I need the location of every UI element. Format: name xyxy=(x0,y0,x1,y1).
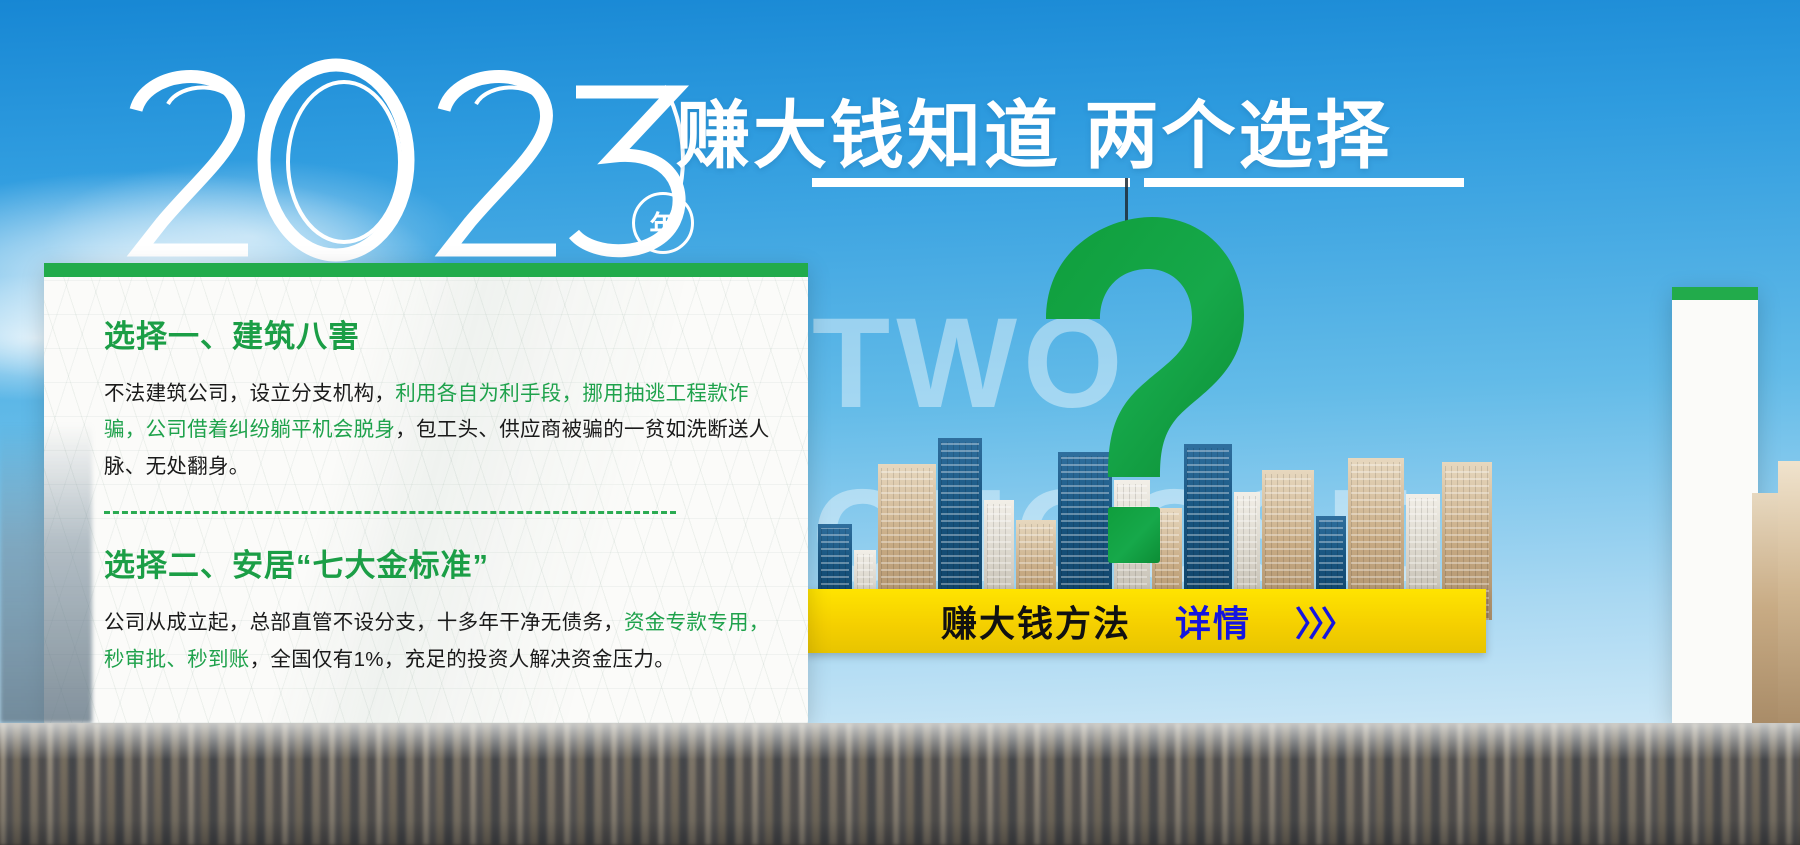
cta-detail-label: 详情 xyxy=(1175,595,1251,647)
reflection-fade xyxy=(0,723,1800,845)
section-two-part-1: 公司从成立起，总部直管不设分支，十多年干净无债务， xyxy=(104,611,624,634)
watermark-two: TWO xyxy=(812,300,1129,428)
content-card-partial xyxy=(1672,287,1758,723)
shore-blur xyxy=(0,423,92,723)
content-card: 选择一、建筑八害 不法建筑公司，设立分支机构，利用各自为利手段，挪用抽逃工程款诈… xyxy=(44,263,808,723)
page-title: 赚大钱知道 两个选择 xyxy=(676,76,1393,183)
card-section-one: 选择一、建筑八害 不法建筑公司，设立分支机构，利用各自为利手段，挪用抽逃工程款诈… xyxy=(104,311,780,485)
section-one-title: 选择一、建筑八害 xyxy=(104,311,780,356)
chevron-right-icon: 〉〉〉 xyxy=(1295,597,1351,646)
rule-left-segment xyxy=(812,178,1130,187)
card-section-two: 选择二、安居“七大金标准” 公司从成立起，总部直管不设分支，十多年干净无债务，资… xyxy=(104,540,780,678)
year-unit-badge: 年 xyxy=(632,192,694,254)
section-one-body: 不法建筑公司，设立分支机构，利用各自为利手段，挪用抽逃工程款诈骗，公司借着纠纷躺… xyxy=(104,376,780,485)
card-partial-accent-bar xyxy=(1672,287,1758,300)
section-two-body: 公司从成立起，总部直管不设分支，十多年干净无债务，资金专款专用，秒审批、秒到账，… xyxy=(104,605,780,678)
section-two-part-3: ，全国仅有1%，充足的投资人解决资金压力。 xyxy=(250,648,675,671)
city-skyline-right xyxy=(1752,430,1800,723)
section-one-part-1: 不法建筑公司，设立分支机构， xyxy=(104,382,395,405)
cta-bar[interactable]: 赚大钱方法 详情 〉〉〉 xyxy=(806,589,1486,653)
bottom-reflection-strip xyxy=(0,723,1800,845)
section-two-title: 选择二、安居“七大金标准” xyxy=(104,540,780,585)
rule-vertical-stem xyxy=(1125,178,1128,262)
section-divider xyxy=(104,511,676,514)
promo-banner: 年 赚大钱知道 两个选择 TWO CHOOSE xyxy=(0,0,1800,845)
cta-main-label: 赚大钱方法 xyxy=(941,595,1131,647)
rule-right-segment xyxy=(1144,178,1464,187)
headline-rule xyxy=(812,178,1464,188)
